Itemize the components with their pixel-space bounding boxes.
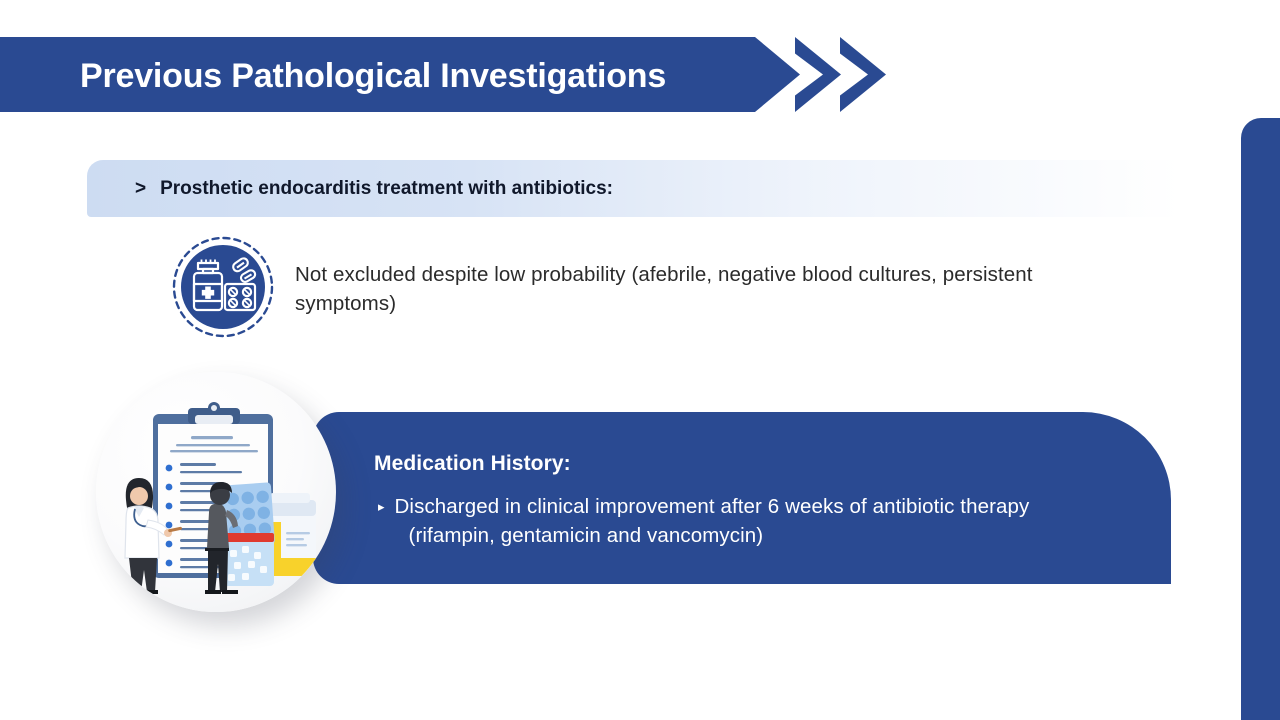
medication-history-bullet: ▸ Discharged in clinical improvement aft… xyxy=(378,492,1148,550)
chevron-right-icon-1 xyxy=(795,37,841,112)
medication-bullet-line-2: (rifampin, gentamicin and vancomycin) xyxy=(395,521,1030,550)
chevron-bullet-icon: > xyxy=(135,176,146,202)
subtitle-text: Prosthetic endocarditis treatment with a… xyxy=(160,176,613,202)
triangle-bullet-icon: ▸ xyxy=(378,492,385,550)
medication-history-title: Medication History: xyxy=(374,452,571,476)
pill-section-body: Not excluded despite low probability (af… xyxy=(295,260,1055,318)
medication-bullet-line-1: Discharged in clinical improvement after… xyxy=(395,495,1030,518)
right-accent-bar xyxy=(1241,118,1280,720)
page-title: Previous Pathological Investigations xyxy=(80,52,780,100)
chevron-right-icon-2 xyxy=(840,37,886,112)
slide-canvas: Previous Pathological Investigations > P… xyxy=(0,0,1280,720)
medicine-bottle-pills-icon xyxy=(172,236,274,338)
clipboard-doctor-patient-medication-illustration xyxy=(96,372,336,612)
medication-history-bullet-text: Discharged in clinical improvement after… xyxy=(395,492,1030,550)
subtitle-row: > Prosthetic endocarditis treatment with… xyxy=(135,176,613,202)
